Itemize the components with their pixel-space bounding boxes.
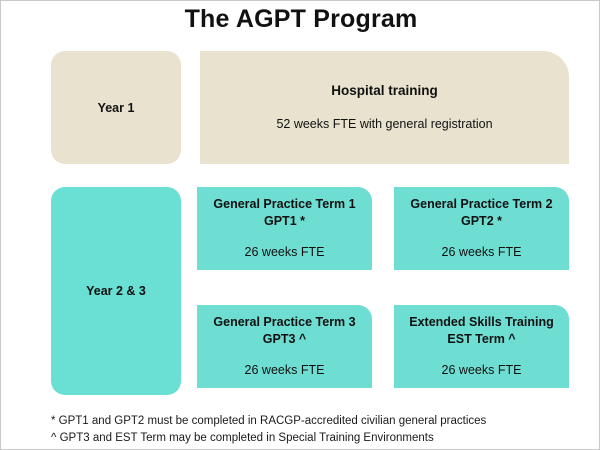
- year-2-3-label-box: Year 2 & 3: [51, 187, 181, 395]
- year-1-label-text: Year 1: [98, 101, 135, 115]
- year-2-3-label-text: Year 2 & 3: [86, 284, 146, 298]
- footnote-asterisk: * GPT1 and GPT2 must be completed in RAC…: [51, 413, 571, 430]
- est-term-box: Extended Skills Training EST Term ^ 26 w…: [394, 305, 569, 388]
- hospital-training-title: Hospital training: [331, 82, 438, 100]
- gpt1-code: GPT1 *: [264, 214, 305, 228]
- gpt3-code: GPT3 ^: [263, 332, 306, 346]
- est-term-code: EST Term ^: [447, 332, 515, 346]
- hospital-training-box: Hospital training 52 weeks FTE with gene…: [200, 51, 569, 164]
- gpt2-box: General Practice Term 2 GPT2 * 26 weeks …: [394, 187, 569, 270]
- gpt2-title: General Practice Term 2 GPT2 *: [410, 196, 552, 230]
- gpt1-subtitle: 26 weeks FTE: [245, 244, 325, 261]
- est-term-subtitle: 26 weeks FTE: [442, 362, 522, 379]
- gpt1-title: General Practice Term 1 GPT1 *: [213, 196, 355, 230]
- footnotes: * GPT1 and GPT2 must be completed in RAC…: [51, 413, 571, 448]
- agpt-program-diagram: The AGPT Program Year 1 Hospital trainin…: [0, 0, 600, 450]
- gpt2-code: GPT2 *: [461, 214, 502, 228]
- page-title: The AGPT Program: [1, 5, 600, 34]
- gpt1-box: General Practice Term 1 GPT1 * 26 weeks …: [197, 187, 372, 270]
- gpt3-subtitle: 26 weeks FTE: [245, 362, 325, 379]
- est-term-title-line: Extended Skills Training: [409, 315, 553, 329]
- gpt2-title-line: General Practice Term 2: [410, 197, 552, 211]
- hospital-training-subtitle: 52 weeks FTE with general registration: [276, 116, 492, 133]
- gpt2-subtitle: 26 weeks FTE: [442, 244, 522, 261]
- footnote-caret: ^ GPT3 and EST Term may be completed in …: [51, 430, 571, 447]
- gpt1-title-line: General Practice Term 1: [213, 197, 355, 211]
- gpt3-box: General Practice Term 3 GPT3 ^ 26 weeks …: [197, 305, 372, 388]
- gpt3-title-line: General Practice Term 3: [213, 315, 355, 329]
- gpt3-title: General Practice Term 3 GPT3 ^: [213, 314, 355, 348]
- est-term-title: Extended Skills Training EST Term ^: [409, 314, 553, 348]
- year-1-label-box: Year 1: [51, 51, 181, 164]
